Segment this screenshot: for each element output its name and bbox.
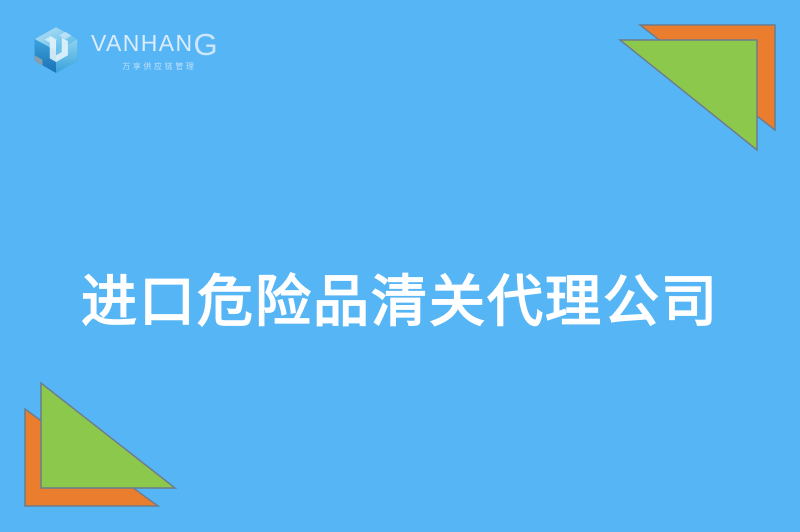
banner-headline: 进口危险品清关代理公司	[0, 269, 800, 337]
vanhang-cube-logo-icon	[30, 24, 82, 76]
logo-latin-text: VANHANG	[91, 29, 218, 60]
bottom-left-orange-triangle	[25, 409, 158, 506]
logo-latin-main: VANHAN	[91, 30, 194, 56]
top-right-orange-triangle	[640, 25, 775, 130]
logo-wordmark: VANHANG 万享供应链管理	[91, 29, 218, 71]
logo-chinese-text: 万享供应链管理	[91, 63, 218, 71]
decoration-triangles	[0, 0, 800, 532]
logo-latin-g: G	[194, 27, 218, 62]
brand-logo: VANHANG 万享供应链管理	[30, 24, 218, 76]
top-right-green-triangle	[620, 40, 757, 150]
bottom-left-green-triangle	[41, 383, 175, 488]
promo-banner: VANHANG 万享供应链管理 进口危险品清关代理公司	[0, 0, 800, 532]
